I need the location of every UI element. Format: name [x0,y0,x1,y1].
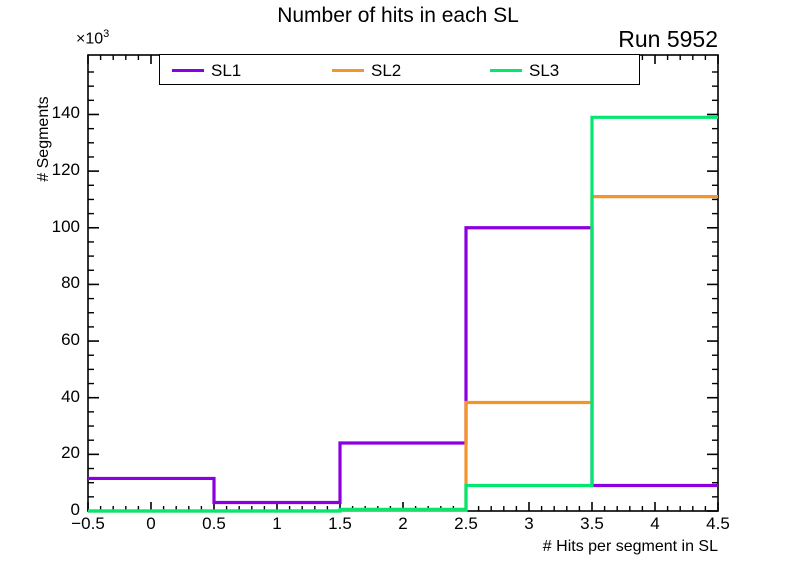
y-tick-label: 120 [34,160,80,180]
page-title: Number of hits in each SL [0,4,796,28]
x-axis-label: # Hits per segment in SL [543,538,718,556]
exponent-power: 3 [103,28,109,40]
legend-label-sl2: SL2 [371,62,401,79]
legend: SL1 SL2 SL3 [159,54,640,85]
y-tick-label: 80 [34,273,80,293]
legend-label-sl1: SL1 [211,62,241,79]
x-tick-label: 2.5 [436,514,496,534]
legend-label-sl3: SL3 [529,62,559,79]
y-tick-label: 100 [34,217,80,237]
legend-entry-1: SL2 [332,55,401,86]
y-tick-label: 40 [34,387,80,407]
exponent-mantissa: ×10 [76,30,103,47]
x-tick-label: 4.5 [688,514,748,534]
x-tick-label: 1.5 [310,514,370,534]
y-tick-label: 20 [34,443,80,463]
legend-swatch-sl2 [332,69,364,72]
x-tick-label: −0.5 [58,514,118,534]
legend-entry-2: SL3 [490,55,559,86]
y-tick-label: 140 [34,103,80,123]
x-tick-label: 3 [499,514,559,534]
x-tick-label: 1 [247,514,307,534]
legend-swatch-sl3 [490,69,522,72]
run-label: Run 5952 [618,26,718,53]
x-tick-label: 4 [625,514,685,534]
legend-swatch-sl1 [172,69,204,72]
x-tick-label: 2 [373,514,433,534]
y-tick-label: 60 [34,330,80,350]
x-tick-label: 0 [121,514,181,534]
x-tick-label: 3.5 [562,514,622,534]
y-axis-label: # Segments [35,59,53,219]
x-tick-label: 0.5 [184,514,244,534]
legend-entry-0: SL1 [172,55,241,86]
y-axis-exponent-label: ×103 [76,28,109,48]
